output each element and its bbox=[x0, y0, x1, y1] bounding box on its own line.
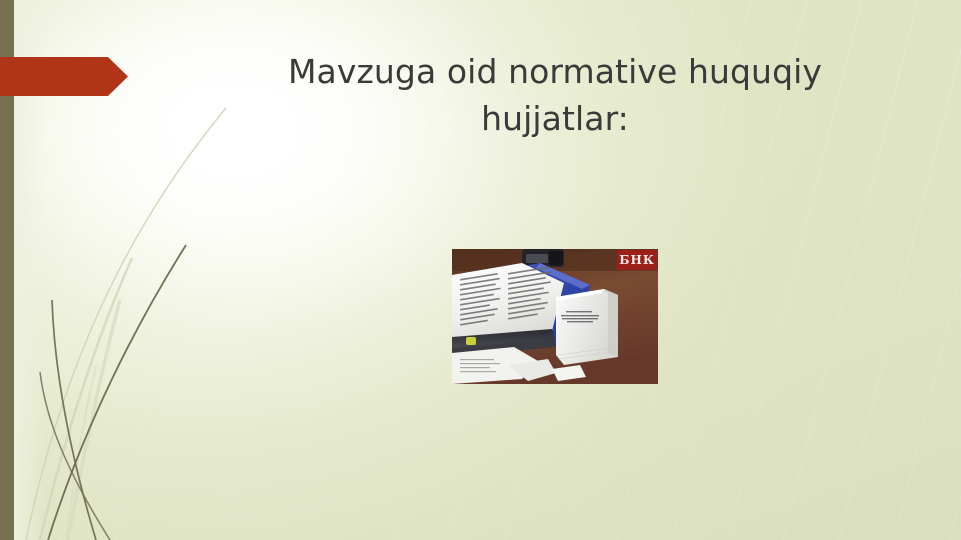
bnk-watermark-badge: БНК bbox=[617, 250, 657, 270]
red-arrow-banner bbox=[0, 57, 128, 96]
white-document-stack bbox=[556, 289, 618, 365]
stapler bbox=[522, 249, 564, 267]
bnk-watermark-text: БНК bbox=[619, 254, 655, 266]
slide-title-block: Mavzuga oid normative huquqiy hujjatlar: bbox=[150, 48, 960, 142]
grass-blade-dark-3 bbox=[40, 372, 110, 540]
documents-photo: БНК bbox=[452, 249, 658, 384]
grass-blade-dark-1 bbox=[48, 245, 186, 540]
sticky-note bbox=[466, 337, 476, 345]
presentation-slide: Mavzuga oid normative huquqiy hujjatlar: bbox=[0, 0, 961, 540]
page-title: Mavzuga oid normative huquqiy hujjatlar: bbox=[150, 48, 960, 142]
